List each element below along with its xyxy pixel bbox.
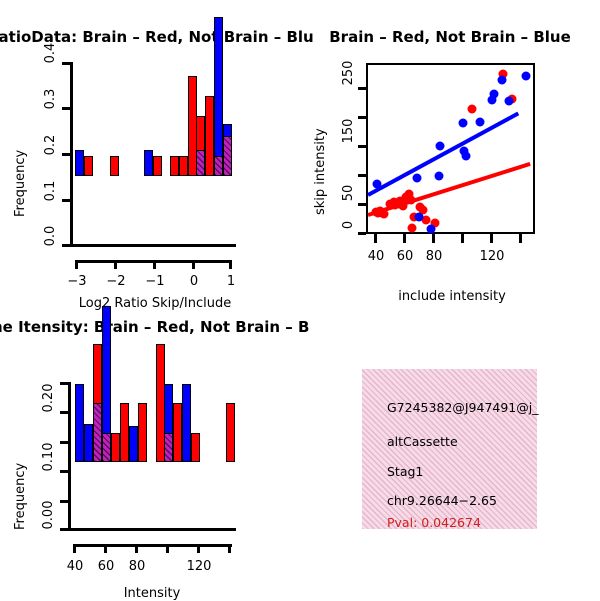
scatter-fitline-not-brain	[367, 112, 519, 197]
scatter-point-not-brain	[522, 72, 531, 81]
bar-overlap-intensity-1	[93, 403, 102, 462]
ratio-x-label-0: 0	[190, 275, 198, 288]
intensity-x-label-40: 40	[67, 560, 84, 573]
scatter-x-axis-title: include intensity	[398, 290, 506, 303]
ratio-plot-area: 0.4 0.3 0.2 0.1 0.0 Frequency	[0, 25, 300, 315]
scatter-point-not-brain	[505, 97, 514, 106]
bar-blue-ratio-5	[214, 17, 223, 176]
bar-red-ratio-2	[110, 156, 119, 176]
ratio-x-tick-1	[229, 260, 232, 269]
bar-blue-intensity-5	[129, 426, 138, 462]
scatter-point-not-brain	[427, 225, 436, 234]
intensity-x-tick-100	[166, 544, 169, 553]
intensity-x-tick-60	[104, 544, 107, 553]
event-type-text: altCassette	[387, 436, 458, 449]
figure-canvas: RatioData: Brain – Red, Not Brain – Blu …	[0, 0, 600, 600]
intensity-x-axis-title: Intensity	[124, 587, 181, 600]
bar-blue-intensity-1	[75, 384, 84, 462]
bar-blue-ratio-1	[75, 150, 84, 176]
bar-overlap-intensity-3	[164, 433, 173, 462]
scatter-y-tick-100	[358, 174, 366, 177]
scatter-point-not-brain	[498, 76, 507, 85]
event-id-text: G7245382@J947491@j_	[387, 402, 538, 415]
scatter-plot-area: 0 50 150 250 skip intensity 40 60 80 120…	[300, 25, 600, 315]
ratio-x-tick--2	[114, 260, 117, 269]
scatter-point-brain	[380, 210, 389, 219]
bar-red-intensity-4	[138, 403, 147, 462]
pvalue-text: Pval: 0.042674	[387, 517, 481, 530]
intensity-x-label-80: 80	[129, 560, 146, 573]
gene-name-text: Stag1	[387, 466, 423, 479]
bar-red-intensity-7	[191, 433, 200, 462]
scatter-point-brain	[407, 196, 416, 205]
scatter-x-tick-60	[403, 234, 406, 243]
scatter-y-label-250: 250	[342, 61, 355, 86]
scatter-point-brain	[468, 105, 477, 114]
ratio-x-tick--3	[75, 260, 78, 269]
scatter-x-tick-40	[374, 234, 377, 243]
scatter-point-not-brain	[490, 90, 499, 99]
scatter-point-not-brain	[459, 119, 468, 128]
scatter-x-label-120: 120	[480, 250, 505, 263]
scatter-y-tick-0	[358, 232, 366, 235]
bar-red-ratio-4	[170, 156, 179, 176]
scatter-point-not-brain	[435, 172, 444, 181]
scatter-y-axis-title: skip intensity	[314, 90, 327, 215]
scatter-x-label-80: 80	[426, 250, 443, 263]
bar-red-ratio-8	[205, 96, 214, 176]
scatter-y-tick-200	[358, 116, 366, 119]
scatter-y-tick-150	[358, 145, 366, 148]
scatter-point-not-brain	[436, 142, 445, 151]
intensity-plot-area: 0.20 0.10 0.00 Frequency	[0, 315, 300, 600]
bar-overlap-ratio-2	[214, 156, 223, 176]
scatter-y-tick-50	[358, 203, 366, 206]
panel-ratio-histogram: RatioData: Brain – Red, Not Brain – Blu …	[0, 25, 300, 315]
intensity-x-tick-120	[197, 544, 200, 553]
scatter-point-brain	[408, 224, 417, 233]
scatter-y-label-0: 0	[342, 221, 355, 229]
scatter-point-brain	[399, 202, 408, 211]
scatter-y-label-50: 50	[342, 185, 355, 202]
bar-red-ratio-1	[84, 156, 93, 176]
intensity-x-tick-80	[135, 544, 138, 553]
bar-blue-intensity-2	[84, 424, 93, 462]
scatter-x-tick-100	[461, 234, 464, 243]
ratio-x-label-1: 1	[227, 275, 235, 288]
bar-blue-intensity-7	[182, 384, 191, 462]
scatter-x-tick-140	[519, 234, 522, 243]
intensity-x-label-120: 120	[187, 560, 212, 573]
intensity-x-label-60: 60	[98, 560, 115, 573]
bar-red-ratio-3	[153, 156, 162, 176]
ratio-bars-group	[0, 25, 300, 247]
bar-red-intensity-8	[226, 403, 235, 462]
bar-overlap-ratio-3	[223, 136, 232, 176]
intensity-x-tick-140	[228, 544, 231, 553]
intensity-x-tick-40	[73, 544, 76, 553]
scatter-frame	[366, 63, 535, 234]
bar-overlap-intensity-2	[102, 433, 111, 462]
panel-intensity-scatter: Brain – Red, Not Brain – Blue	[300, 25, 600, 315]
ratio-x-label--3: −3	[67, 275, 86, 288]
bar-red-intensity-2	[111, 433, 120, 462]
ratio-x-label--2: −2	[106, 275, 125, 288]
scatter-point-not-brain	[476, 118, 485, 127]
bar-red-ratio-5	[179, 156, 188, 176]
scatter-x-label-40: 40	[368, 250, 385, 263]
ratio-x-tick--1	[153, 260, 156, 269]
scatter-point-not-brain	[462, 152, 471, 161]
bar-blue-ratio-2	[144, 150, 153, 176]
ratio-x-label--1: −1	[145, 275, 164, 288]
intensity-x-axis-line	[73, 544, 232, 547]
scatter-y-tick-250	[358, 87, 366, 90]
bar-red-intensity-6	[173, 403, 182, 462]
locus-text: chr9.26644−2.65	[387, 495, 497, 508]
scatter-point-not-brain	[373, 180, 382, 189]
bar-red-intensity-3	[120, 403, 129, 462]
event-info-panel: G7245382@J947491@j_ altCassette Stag1 ch…	[362, 369, 537, 529]
panel-intensity-histogram: ne Itensity: Brain – Red, Not Brain – B …	[0, 315, 300, 600]
scatter-y-label-150: 150	[342, 119, 355, 144]
scatter-x-label-60: 60	[397, 250, 414, 263]
intensity-bars-group	[0, 315, 300, 531]
scatter-point-not-brain	[415, 213, 424, 222]
scatter-x-tick-120	[490, 234, 493, 243]
scatter-x-tick-80	[432, 234, 435, 243]
bar-overlap-ratio-1	[196, 150, 205, 176]
ratio-x-tick-0	[192, 260, 195, 269]
scatter-point-not-brain	[413, 174, 422, 183]
